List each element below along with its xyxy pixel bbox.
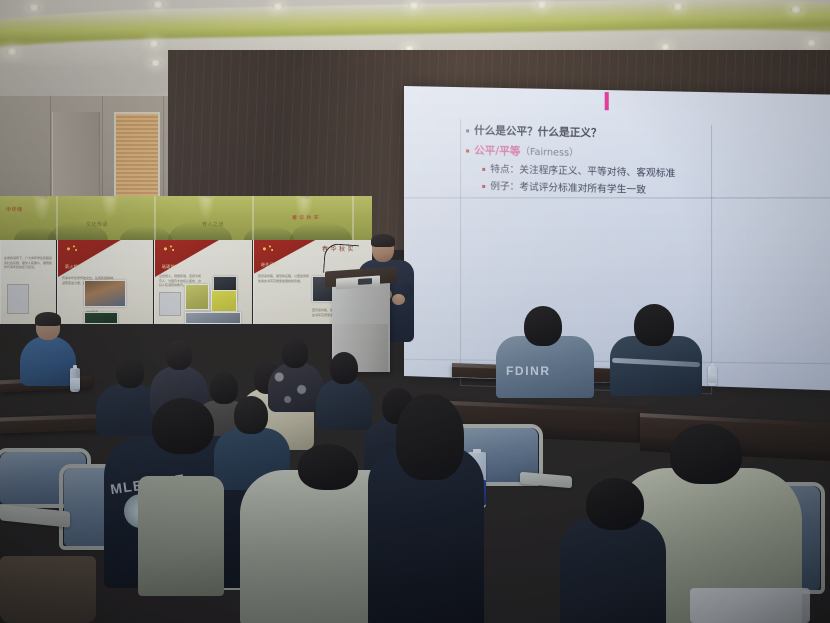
person-torso [560,518,666,623]
bullet-square-icon [482,185,485,188]
exhibit-photo [185,284,209,310]
exhibit-panel-tag: 继往开来 [261,262,278,268]
audience-member [368,394,488,623]
person-head [524,306,562,346]
panel-divider [56,196,58,240]
audience-member [610,304,706,386]
downlight-icon [790,6,802,13]
jacket-text: FDINR [506,364,551,378]
exhibit-panel-tag: 砥砺前行 [162,264,179,270]
downlight-icon [148,40,160,47]
slide-heading-row: 什么是公平？什么是正义？ [466,123,813,145]
exhibit-banner-title: 中华魂 [6,206,23,213]
downlight-icon [536,1,548,8]
person-head [116,356,144,388]
slide-content: 什么是公平？什么是正义？ 公平/平等（Fairness） 特点：关注程序正义、平… [466,123,813,205]
water-bottle [708,366,717,386]
audience-member-fdinr: FDINR [496,306,598,390]
exhibit-panel-image [7,284,29,314]
slide-bullet: 特点：关注程序正义、平等对待、客观标准 [490,163,675,181]
presenter-glasses-icon [375,246,391,250]
person-head [234,396,268,434]
draped-jacket [138,476,224,596]
panel-divider [252,196,254,240]
downlight-icon [28,4,40,11]
audience-member [560,478,670,623]
bottle-cap [73,365,77,369]
person-head [152,398,214,454]
downlight-icon [806,40,817,46]
person-head [586,478,644,530]
exhibit-photo [211,290,237,312]
exhibit-banner-title: 文化传承 [86,221,108,228]
bullet-square-icon [466,129,469,132]
flag-graphic [58,240,121,277]
exhibit-blackboard [84,312,118,324]
person-head [282,338,308,368]
slide-subheading-en: （Fairness） [520,147,578,159]
bottle-label [708,374,717,383]
exhibit-banner-title: 育人之道 [202,221,224,228]
slide-heading: 什么是公平？什么是正义？ [474,124,601,141]
exhibit-panel: 砥砺前行 立德树人，培根铸魂，坚持为党育人、为国育才的初心使命，办好人民满意的教… [154,240,252,324]
downlight-icon [272,3,284,10]
downlight-icon [672,3,684,10]
bottle-cap [711,363,715,367]
exhibit-panel-text: 在党的领导下，广大青年学生积极投身社会实践，服务人民群众，展现新时代青年的责任与… [4,256,54,270]
slide-bullet: 例子：考试评分标准对所有学生一致 [490,180,646,197]
person-head [166,340,192,370]
exhibit-panel-tag: 薪火相传 [65,264,82,270]
person-head [298,444,358,490]
mountain-graphic [120,226,172,240]
downlight-icon [408,2,420,9]
person-head [670,424,742,484]
exhibit-photo [84,280,126,307]
exhibit-photo [185,312,241,324]
cursor-marker [605,92,609,110]
panel-divider [154,196,156,240]
podium-laptop [336,275,380,289]
bottle-label [70,378,80,389]
exhibit-panel-image [159,292,181,316]
downlight-icon [6,48,18,55]
lecture-hall-photo: 中华魂 文化传承 育人之道 春 华 秋 实 在党的领导下，广大青年学生积极投身社… [0,0,830,623]
bullet-square-icon [466,149,469,152]
flag-graphic [155,240,219,277]
slide-bullet-row: 例子：考试评分标准对所有学生一致 [482,180,813,201]
person-hair [396,394,464,480]
person-head [330,352,358,384]
person-head [634,304,674,346]
downlight-icon [150,60,161,66]
person-hair [35,312,61,326]
flag-graphic [254,240,315,274]
water-bottle [70,368,80,392]
presenter-hand [392,294,405,305]
slide-subheading: 公平/平等（Fairness） [474,144,578,161]
person-torso [20,336,76,386]
downlight-icon [152,1,164,8]
backpack[interactable] [0,556,96,623]
bullet-square-icon [482,168,485,171]
slide-sub-bullets: 特点：关注程序正义、平等对待、客观标准 例子：考试评分标准对所有学生一致 [482,163,813,201]
exhibition-wall: 中华魂 文化传承 育人之道 春 华 秋 实 在党的领导下，广大青年学生积极投身社… [0,196,372,324]
exhibition-header-band: 中华魂 文化传承 育人之道 春 华 秋 实 [0,196,372,240]
plastic-bag[interactable] [690,588,810,623]
exhibit-panel-text: 回望来时路，展望新征程，以更加昂扬的姿态书写高质量发展的新篇章。 [258,274,310,283]
microphone-icon [323,243,359,275]
